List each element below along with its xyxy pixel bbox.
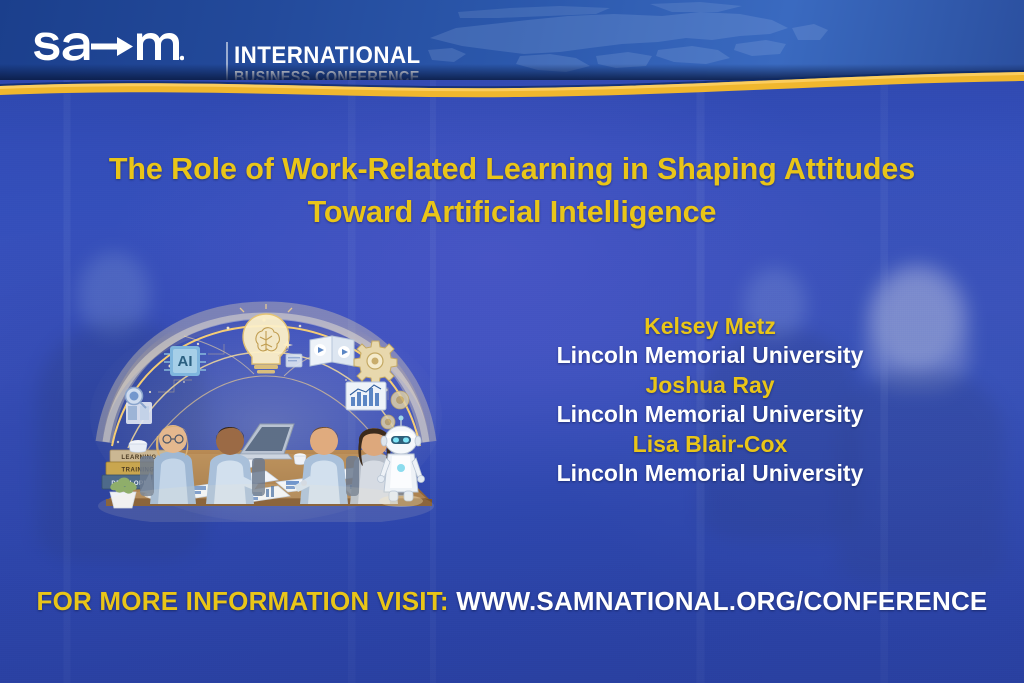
author-list: Kelsey Metz Lincoln Memorial University … [520,312,900,489]
title-line-2: Toward Artificial Intelligence [60,191,964,234]
sam-arrow-logo [34,20,184,64]
book-media-icon [310,336,354,366]
author-name: Joshua Ray [520,371,900,400]
sam-logo[interactable]: INTERNATIONAL BUSINESS CONFERENCE [34,20,184,64]
author-affiliation: Lincoln Memorial University [520,400,900,429]
author-affiliation: Lincoln Memorial University [520,459,900,488]
footer-url[interactable]: WWW.SAMNATIONAL.ORG/CONFERENCE [456,586,987,616]
footer-label: FOR MORE INFORMATION VISIT: [37,586,449,616]
footer: FOR MORE INFORMATION VISIT: WWW.SAMNATIO… [0,586,1024,617]
bar-chart-icon [346,382,386,410]
title-line-1: The Role of Work-Related Learning in Sha… [60,148,964,191]
author-name: Kelsey Metz [520,312,900,341]
page-title: The Role of Work-Related Learning in Sha… [60,148,964,235]
author-affiliation: Lincoln Memorial University [520,341,900,370]
ai-learning-team-illustration: AI [88,296,444,522]
svg-text:AI: AI [178,353,193,370]
author-name: Lisa Blair-Cox [520,430,900,459]
gold-swoosh-divider [0,64,1024,98]
ai-chip-icon: AI [164,346,206,376]
presentation-slide: INTERNATIONAL BUSINESS CONFERENCE The Ro… [0,0,1024,683]
